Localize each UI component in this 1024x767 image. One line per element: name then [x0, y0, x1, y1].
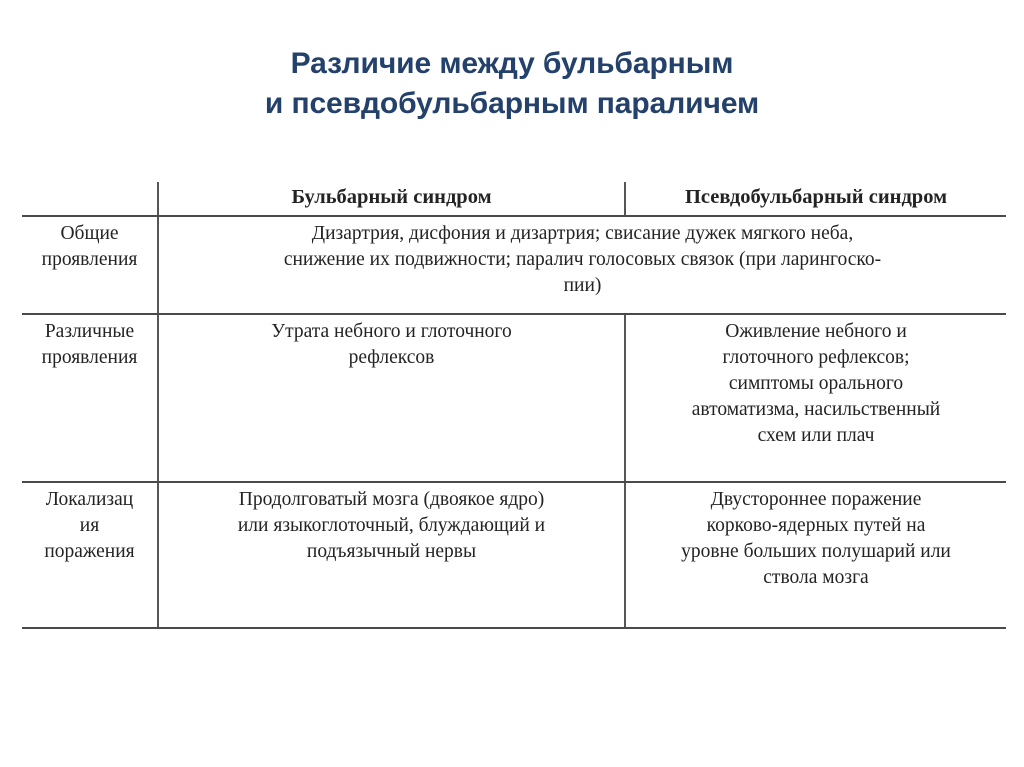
cell-text-line: пии) — [165, 273, 1000, 299]
column-header-bulbar: Бульбарный синдром — [158, 182, 625, 216]
cell-text-line: автоматизма, насильственный — [632, 397, 1000, 423]
row-label-line: Различные — [28, 319, 151, 345]
slide-root: Различие между бульбарным и псевдобульба… — [0, 0, 1024, 767]
row-label-line: Локализац — [28, 487, 151, 513]
cell-text-line: снижение их подвижности; паралич голосов… — [165, 247, 1000, 273]
row-label-common-manifestations: Общие проявления — [22, 216, 158, 314]
cell-text-line: подъязычный нервы — [165, 539, 618, 565]
row-label-line: поражения — [28, 539, 151, 565]
cell-text-line: корково-ядерных путей на — [632, 513, 1000, 539]
cell-lesion-localization-bulbar: Продолговатый мозга (двоякое ядро) или я… — [158, 482, 625, 628]
row-label-lesion-localization: Локализац ия поражения — [22, 482, 158, 628]
cell-different-manifestations-bulbar: Утрата небного и глоточного рефлексов — [158, 314, 625, 482]
table-row: Локализац ия поражения Продолговатый моз… — [22, 482, 1006, 628]
row-label-different-manifestations: Различные проявления — [22, 314, 158, 482]
table-row: Различные проявления Утрата небного и гл… — [22, 314, 1006, 482]
cell-text-line: Продолговатый мозга (двоякое ядро) — [165, 487, 618, 513]
page-title-line-1: Различие между бульбарным — [0, 44, 1024, 84]
column-header-label — [22, 182, 158, 216]
cell-text-line: симптомы орального — [632, 371, 1000, 397]
page-title: Различие между бульбарным и псевдобульба… — [0, 44, 1024, 124]
page-title-line-2: и псевдобульбарным параличем — [0, 84, 1024, 124]
cell-text-line: Дизартрия, дисфония и дизартрия; свисани… — [165, 221, 1000, 247]
row-label-line: Общие — [28, 221, 151, 247]
row-label-line: проявления — [28, 345, 151, 371]
cell-text-line: схем или плач — [632, 423, 1000, 449]
cell-text-line: уровне больших полушарий или — [632, 539, 1000, 565]
cell-text-line: Утрата небного и глоточного — [165, 319, 618, 345]
table-header-row: Бульбарный синдром Псевдобульбарный синд… — [22, 182, 1006, 216]
cell-different-manifestations-pseudobulbar: Оживление небного и глоточного рефлексов… — [625, 314, 1006, 482]
comparison-table: Бульбарный синдром Псевдобульбарный синд… — [22, 182, 1006, 629]
row-label-line: проявления — [28, 247, 151, 273]
cell-text-line: рефлексов — [165, 345, 618, 371]
cell-text-line: Оживление небного и — [632, 319, 1000, 345]
cell-common-manifestations-merged: Дизартрия, дисфония и дизартрия; свисани… — [158, 216, 1006, 314]
row-label-line: ия — [28, 513, 151, 539]
cell-lesion-localization-pseudobulbar: Двустороннее поражение корково-ядерных п… — [625, 482, 1006, 628]
table-row: Общие проявления Дизартрия, дисфония и д… — [22, 216, 1006, 314]
cell-text-line: глоточного рефлексов; — [632, 345, 1000, 371]
cell-text-line: Двустороннее поражение — [632, 487, 1000, 513]
cell-text-line: ствола мозга — [632, 565, 1000, 591]
cell-text-line: или языкоглоточный, блуждающий и — [165, 513, 618, 539]
column-header-pseudobulbar: Псевдобульбарный синдром — [625, 182, 1006, 216]
comparison-table-container: Бульбарный синдром Псевдобульбарный синд… — [22, 182, 1006, 629]
